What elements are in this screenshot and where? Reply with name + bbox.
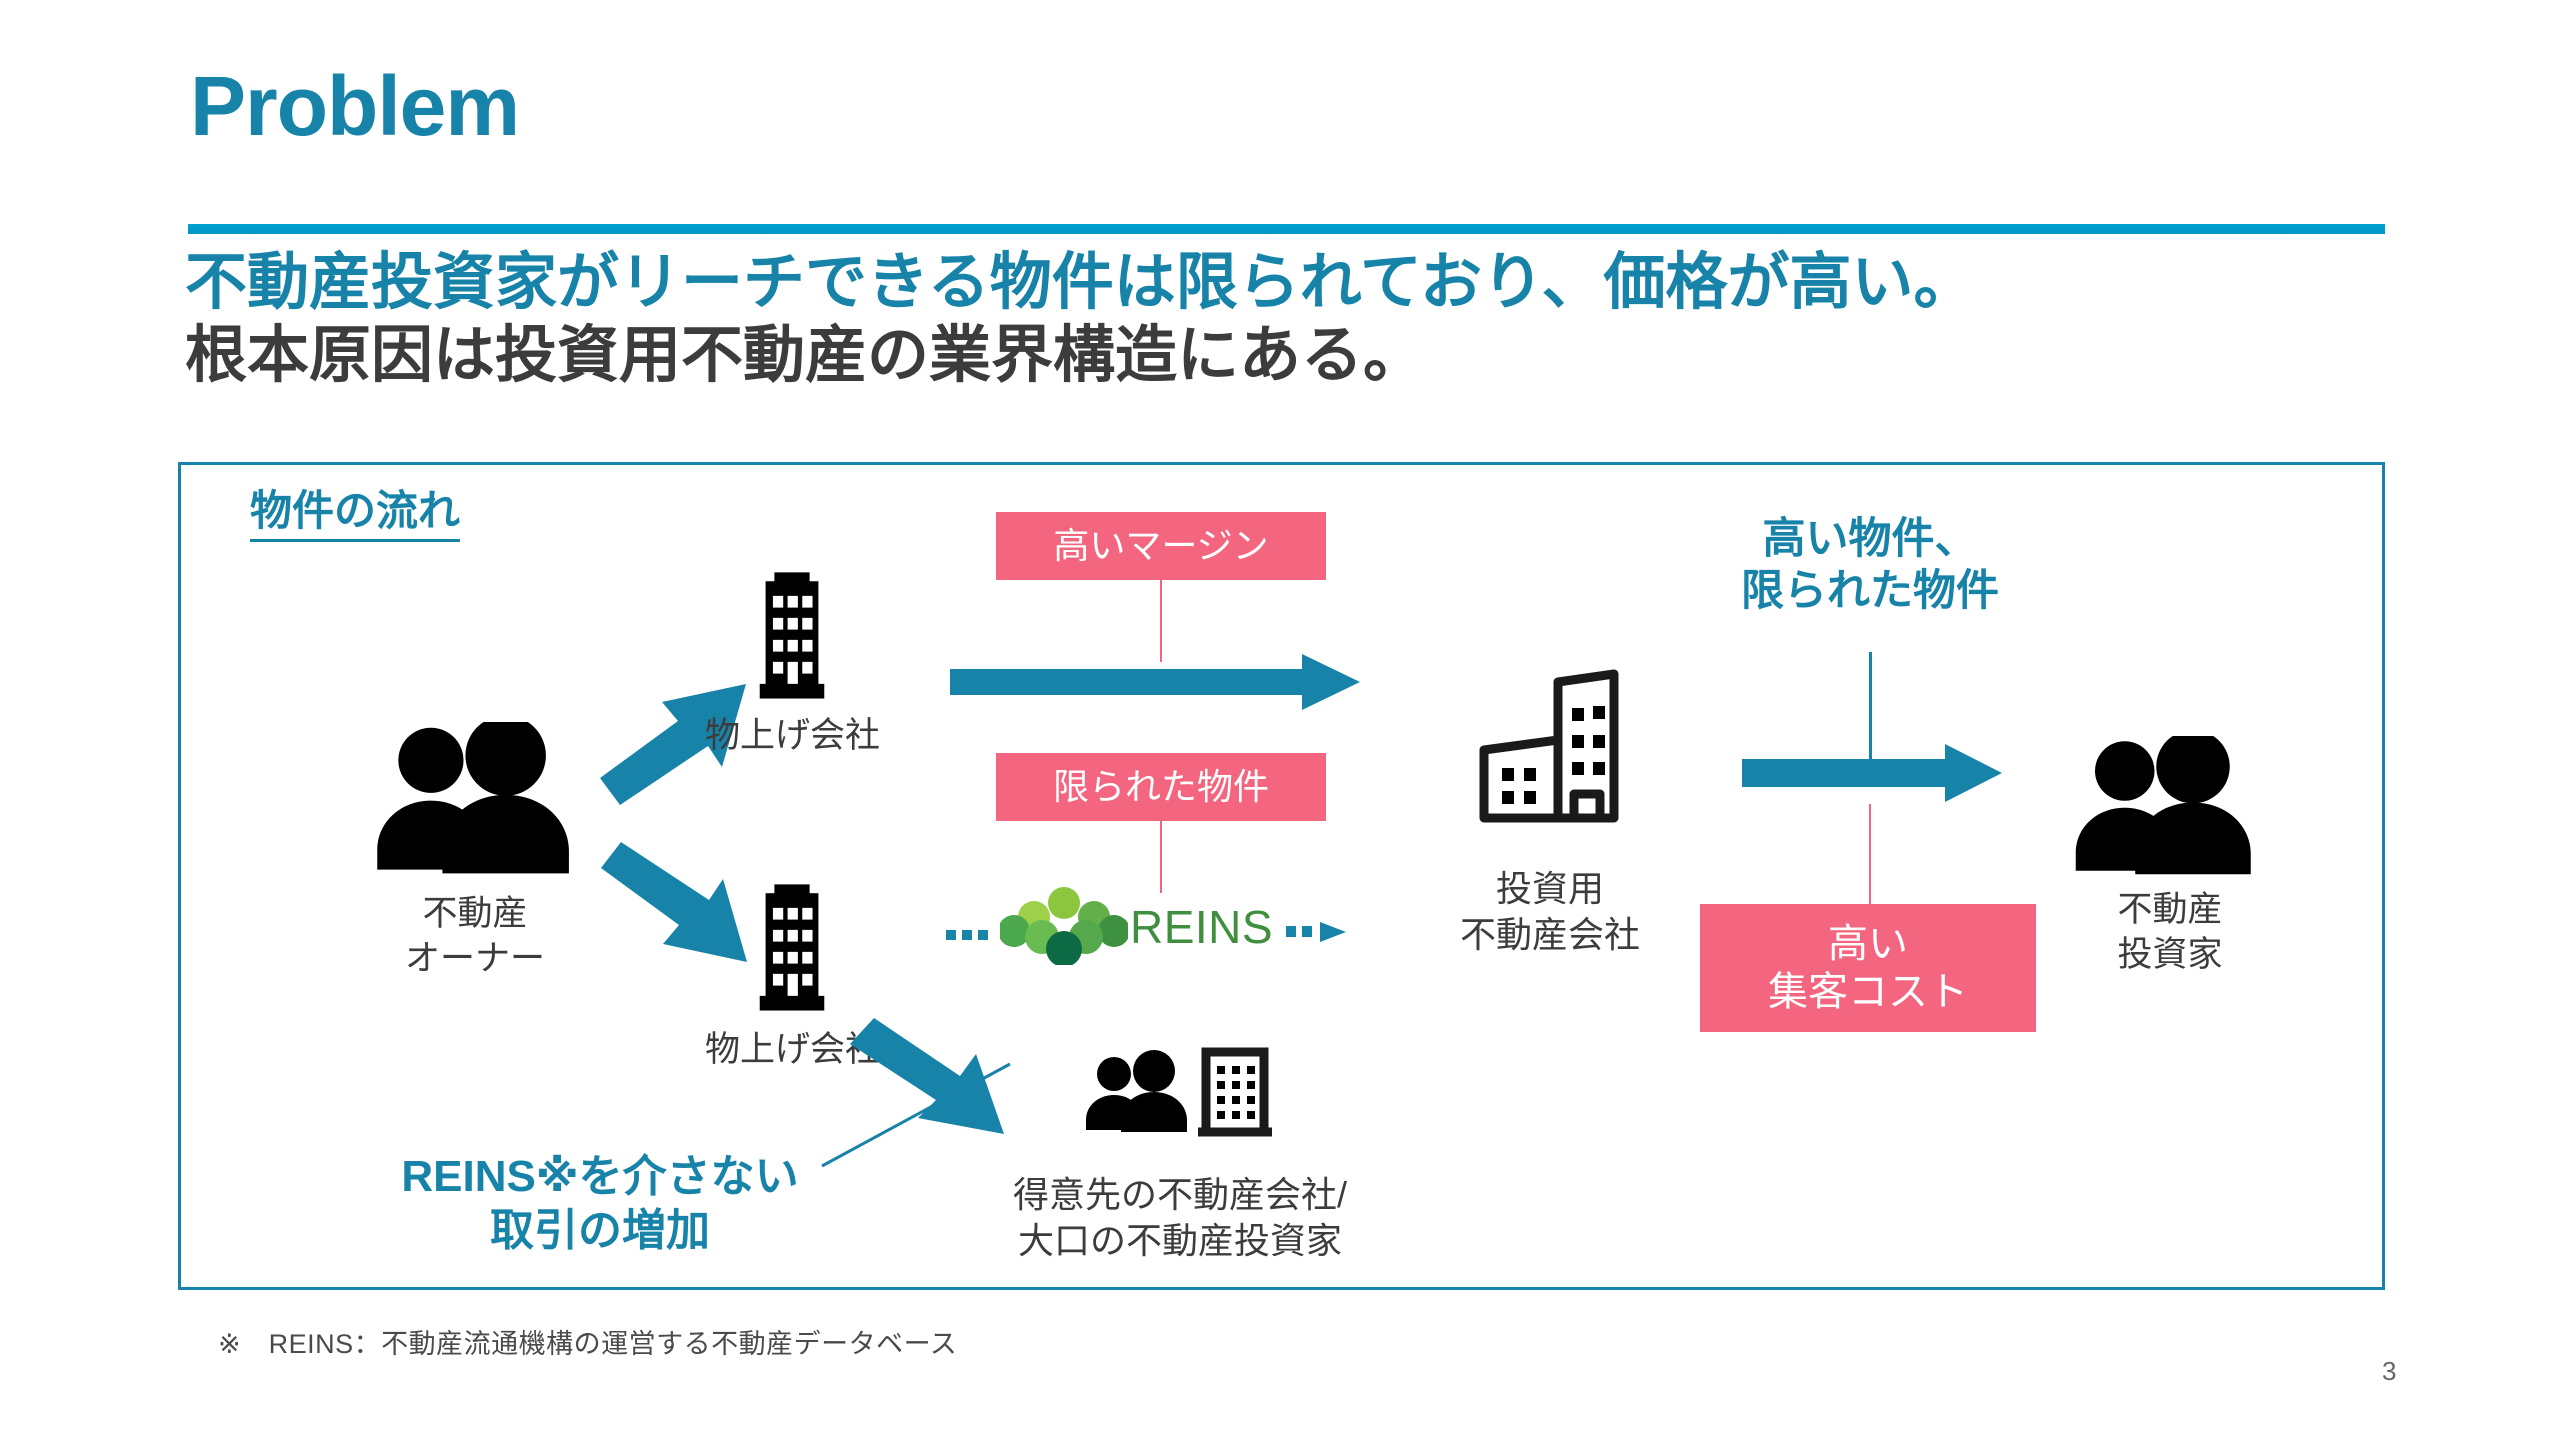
- subtitle-line-2: 根本原因は投資用不動産の業界構造にある。: [185, 319, 2445, 392]
- node-owner-label-line1: 不動産: [320, 892, 630, 937]
- node-investor: [2060, 736, 2270, 888]
- connector-limited-properties: [1160, 821, 1162, 893]
- reins-dotted-lead-in: [946, 926, 996, 942]
- callout-no-reins-deals-line2: 取引の増加: [320, 1204, 880, 1258]
- node-owner-label-line2: オーナー: [320, 937, 630, 982]
- flow-section-heading: 物件の流れ: [250, 487, 460, 542]
- building-solid-icon: [748, 872, 836, 1020]
- node-investor-label: 不動産 投資家: [2030, 888, 2310, 978]
- people-icon: [2060, 736, 2270, 883]
- arrow-flow-to-investment-company: [950, 652, 1360, 712]
- node-owner-label: 不動産 オーナー: [320, 892, 630, 982]
- arrow-flow-to-investor: [1742, 742, 2002, 804]
- node-aggregator-top-label: 物上げ会社: [660, 714, 925, 759]
- node-reins-label: REINS: [1130, 900, 1273, 954]
- node-preferred-clients-label-line1: 得意先の不動産会社/: [940, 1172, 1420, 1218]
- callout-high-acquisition-cost: 高い 集客コスト: [1700, 904, 2036, 1032]
- people-icon: [360, 722, 590, 883]
- connector-high-margin: [1160, 580, 1162, 662]
- title-underline-rule: [188, 224, 2385, 234]
- node-owner: [360, 722, 590, 888]
- callout-high-acquisition-cost-line1: 高い: [1828, 920, 1908, 968]
- page-title: Problem: [190, 62, 519, 150]
- node-preferred-clients-label: 得意先の不動産会社/ 大口の不動産投資家: [940, 1172, 1420, 1264]
- people-and-building-icon: [1078, 1046, 1278, 1156]
- node-investment-company-label-line1: 投資用: [1400, 866, 1700, 912]
- page-number: 3: [2382, 1356, 2396, 1387]
- node-investment-company-label-line2: 不動産会社: [1400, 912, 1700, 958]
- callout-high-acquisition-cost-line2: 集客コスト: [1768, 968, 1968, 1016]
- reins-logo-icon: [1000, 885, 1128, 965]
- node-investor-label-line1: 不動産: [2030, 888, 2310, 933]
- reins-dotted-arrow-out: [1286, 920, 1360, 944]
- subtitle-line-1: 不動産投資家がリーチできる物件は限られており、価格が高い。: [185, 246, 2445, 319]
- slide-subtitle: 不動産投資家がリーチできる物件は限られており、価格が高い。 根本原因は投資用不動…: [185, 246, 2445, 392]
- callout-no-reins-deals: REINS※を介さない 取引の増加: [320, 1150, 880, 1257]
- callout-high-margin: 高いマージン: [996, 512, 1326, 580]
- callout-high-price-limited-line2: 限られた物件: [1640, 565, 2100, 617]
- arrow-owner-to-aggregator-bottom: [596, 830, 761, 980]
- node-preferred-clients-label-line2: 大口の不動産投資家: [940, 1218, 1420, 1264]
- node-investment-company-label: 投資用 不動産会社: [1400, 866, 1700, 958]
- callout-high-price-limited-line1: 高い物件、: [1640, 513, 2100, 565]
- node-investor-label-line2: 投資家: [2030, 933, 2310, 978]
- building-outline-icon: [1462, 660, 1634, 832]
- callout-no-reins-deals-line1: REINS※を介さない: [320, 1150, 880, 1204]
- callout-limited-properties: 限られた物件: [996, 753, 1326, 821]
- footnote: ※ REINS：不動産流通機構の運営する不動産データベース: [218, 1322, 957, 1361]
- callout-high-price-limited: 高い物件、 限られた物件: [1640, 513, 2100, 618]
- building-solid-icon: [748, 560, 836, 708]
- connector-high-acquisition-cost: [1869, 804, 1871, 906]
